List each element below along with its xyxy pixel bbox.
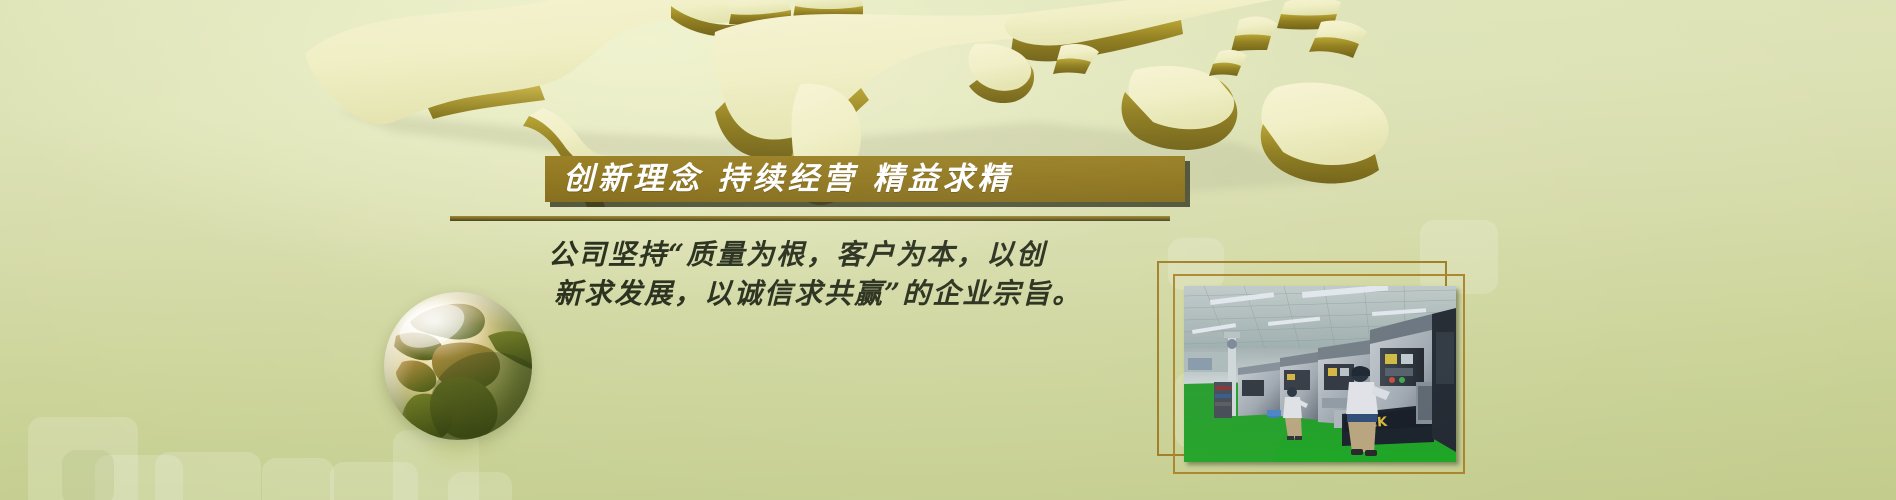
background-square (448, 472, 512, 500)
company-motto-line1: 公司坚持“质量为根，客户为本，以创 (548, 236, 1173, 275)
factory-workshop-photo: dicK (1184, 286, 1456, 462)
background-square (28, 417, 138, 500)
background-square (330, 462, 418, 500)
slogan-underline-rule (450, 216, 1170, 221)
slogan-band-fill: 创新理念 持续经营 精益求精 (545, 156, 1185, 202)
slogan-band: 创新理念 持续经营 精益求精 (545, 156, 1185, 202)
globe-highlight (398, 300, 490, 358)
background-square (393, 430, 479, 500)
company-motto-line2: 新求发展，以诚信求共赢”的企业宗旨。 (548, 275, 1173, 314)
background-square (262, 458, 334, 500)
background-square (95, 455, 183, 500)
globe-rim-light (384, 292, 532, 440)
slogan-text: 创新理念 持续经营 精益求精 (563, 164, 1013, 195)
globe-3d (376, 292, 544, 492)
company-motto: 公司坚持“质量为根，客户为本，以创 新求发展，以诚信求共赢”的企业宗旨。 (548, 236, 1173, 313)
company-slogan-banner: 创新理念 持续经营 精益求精 公司坚持“质量为根，客户为本，以创 新求发展，以诚… (0, 0, 1896, 500)
background-square (155, 452, 261, 500)
background-square (62, 450, 114, 500)
factory-photo-frame: dicK (1157, 261, 1465, 474)
globe-reflection (398, 442, 518, 484)
globe-sphere (384, 292, 532, 440)
